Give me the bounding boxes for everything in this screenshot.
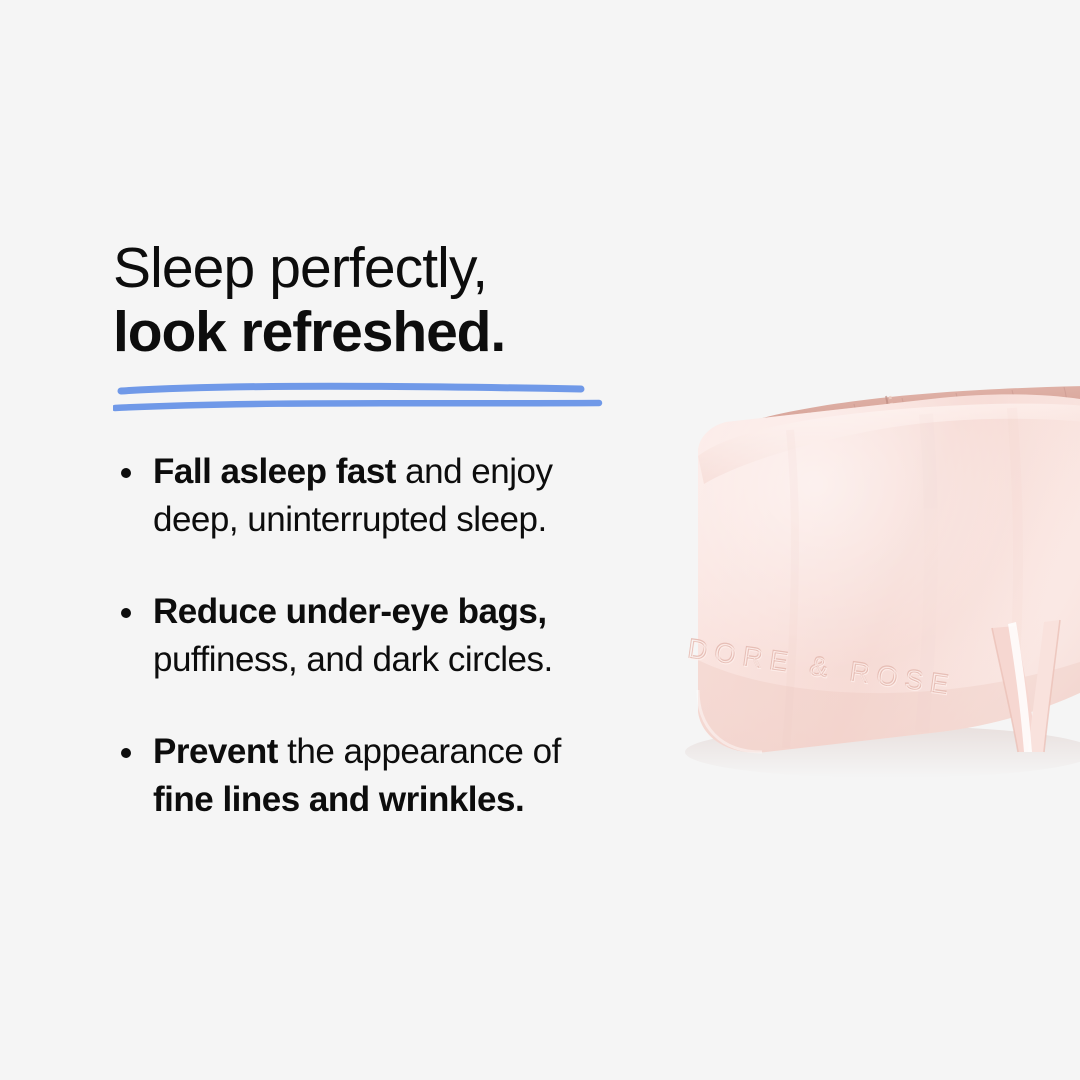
sleep-mask-illustration: DORE & ROSE DORE & ROSE xyxy=(640,360,1080,820)
underline-stroke-1 xyxy=(121,386,581,391)
benefit-item-2: Reduce under-eye bags, puffiness, and da… xyxy=(113,588,693,684)
benefits-list: Fall asleep fast and enjoy deep, uninter… xyxy=(113,448,693,824)
benefit-3-bold: Prevent xyxy=(153,732,278,771)
headline-line-1: Sleep perfectly, xyxy=(113,236,693,300)
product-image-sleep-mask: DORE & ROSE DORE & ROSE xyxy=(640,360,1080,820)
marketing-copy-block: Sleep perfectly, look refreshed. Fall as… xyxy=(113,236,693,824)
bullet-dot-icon xyxy=(121,608,131,618)
benefit-1-line-2: deep, uninterrupted sleep. xyxy=(153,496,693,544)
headline-underline xyxy=(113,378,613,420)
promo-canvas: DORE & ROSE DORE & ROSE Sleep perfectly,… xyxy=(0,0,1080,1080)
benefit-1-line-1: Fall asleep fast and enjoy xyxy=(153,448,693,496)
bullet-dot-icon xyxy=(121,748,131,758)
benefit-item-3: Prevent the appearance of fine lines and… xyxy=(113,728,693,824)
benefit-3-line-2: fine lines and wrinkles. xyxy=(153,776,693,824)
headline-line-2: look refreshed. xyxy=(113,300,693,364)
benefit-3-regular: the appearance of xyxy=(278,732,561,771)
benefit-1-regular: and enjoy xyxy=(396,452,553,491)
hand-drawn-underline-icon xyxy=(113,378,613,420)
benefit-item-1: Fall asleep fast and enjoy deep, uninter… xyxy=(113,448,693,544)
headline: Sleep perfectly, look refreshed. xyxy=(113,236,693,364)
benefit-2-line-2: puffiness, and dark circles. xyxy=(153,636,693,684)
benefit-3-line-1: Prevent the appearance of xyxy=(153,728,693,776)
bullet-dot-icon xyxy=(121,468,131,478)
underline-stroke-2 xyxy=(115,403,599,408)
benefit-2-line-1: Reduce under-eye bags, xyxy=(153,588,693,636)
benefit-1-bold: Fall asleep fast xyxy=(153,452,396,491)
